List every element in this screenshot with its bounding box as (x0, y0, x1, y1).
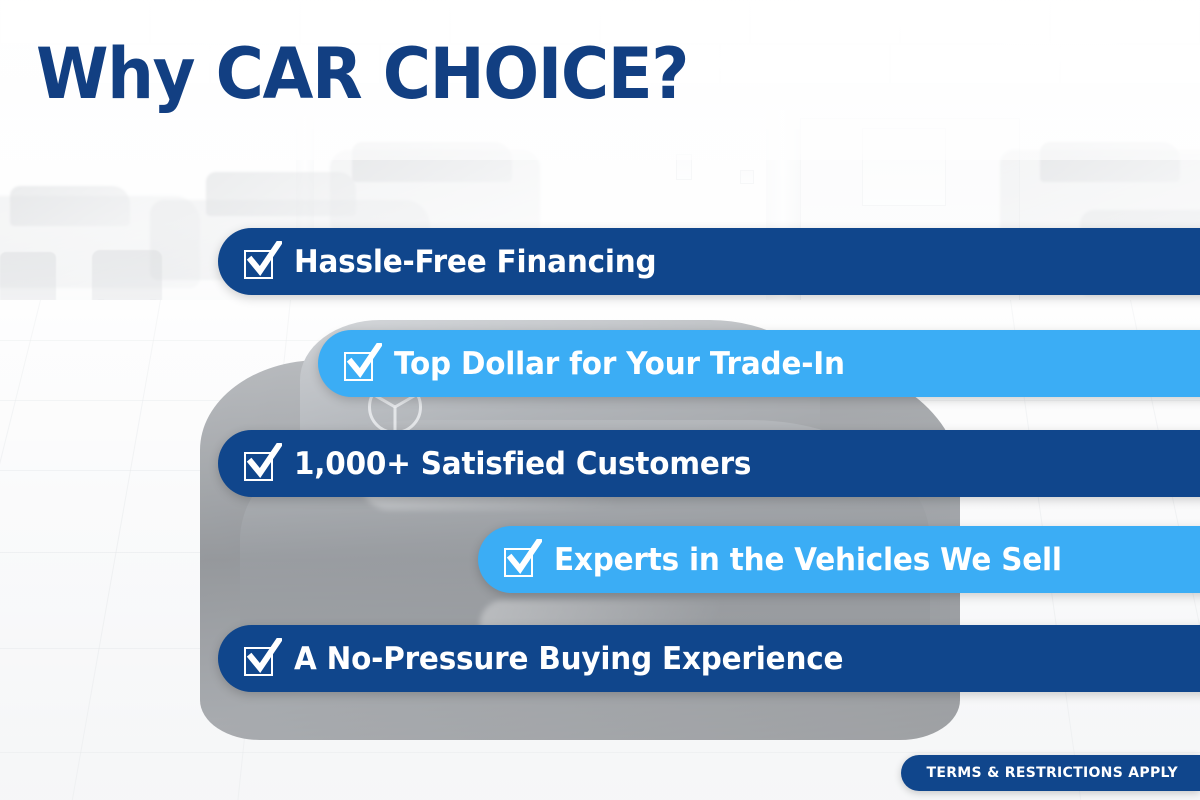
checkbox-checked-icon (344, 347, 378, 381)
checkbox-checked-icon (244, 642, 278, 676)
benefit-label: Experts in the Vehicles We Sell (554, 542, 1062, 578)
benefit-bar-experts-in-vehicles[interactable]: Experts in the Vehicles We Sell (478, 526, 1200, 593)
checkbox-checked-icon (504, 543, 538, 577)
checkbox-checked-icon (244, 245, 278, 279)
benefit-bar-top-dollar-trade-in[interactable]: Top Dollar for Your Trade-In (318, 330, 1200, 397)
page-title: Why CAR CHOICE? (36, 36, 688, 112)
benefit-label: 1,000+ Satisfied Customers (294, 446, 751, 482)
terms-label: TERMS & RESTRICTIONS APPLY (927, 765, 1178, 781)
terms-and-restrictions-badge[interactable]: TERMS & RESTRICTIONS APPLY (901, 755, 1200, 791)
benefit-label: Top Dollar for Your Trade-In (394, 346, 845, 382)
benefit-bar-no-pressure-buying[interactable]: A No-Pressure Buying Experience (218, 625, 1200, 692)
benefit-label: A No-Pressure Buying Experience (294, 641, 843, 677)
checkbox-checked-icon (244, 447, 278, 481)
benefit-bar-hassle-free-financing[interactable]: Hassle-Free Financing (218, 228, 1200, 295)
benefit-label: Hassle-Free Financing (294, 244, 656, 280)
benefit-bar-satisfied-customers[interactable]: 1,000+ Satisfied Customers (218, 430, 1200, 497)
content-layer: Why CAR CHOICE? Hassle-Free Financing To… (0, 0, 1200, 800)
